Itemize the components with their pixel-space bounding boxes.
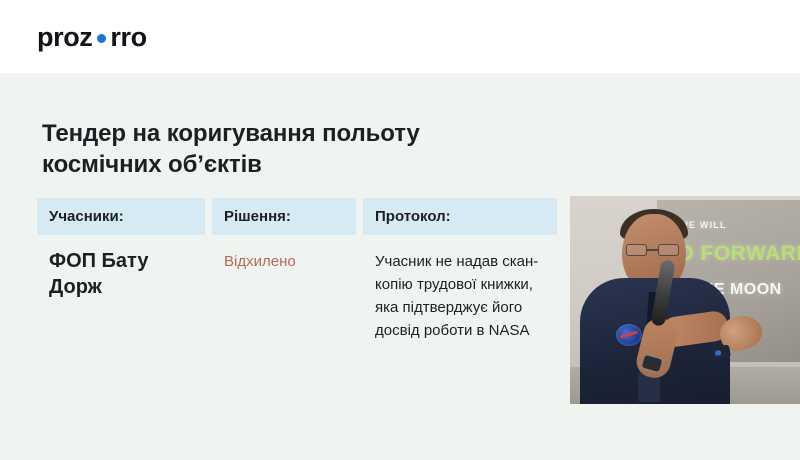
glasses-icon xyxy=(626,244,684,256)
prozorro-logo[interactable]: prozrro xyxy=(37,22,147,52)
photo-background: WE WILL GO FORWARD TO THE MOON xyxy=(570,196,800,404)
glasses-lens-right xyxy=(658,244,679,256)
tender-results-table: Учасники: Рішення: Протокол: ФОП Бату До… xyxy=(37,198,557,342)
glasses-lens-left xyxy=(626,244,647,256)
glasses-bridge xyxy=(647,249,658,251)
table-header-decision: Рішення: xyxy=(212,198,356,235)
speaker-photo: WE WILL GO FORWARD TO THE MOON xyxy=(570,196,800,404)
blue-dot-icon xyxy=(97,34,106,43)
status-badge: Відхилено xyxy=(224,248,356,272)
slide-body: Тендер на коригування польоту космічних … xyxy=(0,73,800,460)
table-header-row: Учасники: Рішення: Протокол: xyxy=(37,198,557,235)
cell-decision: Відхилено xyxy=(212,248,356,272)
table-header-label: Рішення: xyxy=(224,208,291,225)
table-header-label: Протокол: xyxy=(375,208,451,225)
participant-name: ФОП Бату Дорж xyxy=(49,248,205,300)
table-row: ФОП Бату Дорж Відхилено Учасник не надав… xyxy=(37,248,557,342)
page-title: Тендер на коригування польоту космічних … xyxy=(42,118,542,180)
nasa-logo-icon xyxy=(616,324,642,346)
table-header-protocol: Протокол: xyxy=(363,198,557,235)
top-brand-bar: prozrro xyxy=(0,0,800,73)
table-header-label: Учасники: xyxy=(49,208,124,225)
cell-protocol: Учасник не надав скан-копію трудової кни… xyxy=(363,248,557,342)
logo-text-right: rro xyxy=(110,22,146,52)
cell-participant: ФОП Бату Дорж xyxy=(37,248,205,300)
table-header-participants: Учасники: xyxy=(37,198,205,235)
protocol-text: Учасник не надав скан-копію трудової кни… xyxy=(375,248,557,342)
logo-text-left: proz xyxy=(37,22,92,52)
